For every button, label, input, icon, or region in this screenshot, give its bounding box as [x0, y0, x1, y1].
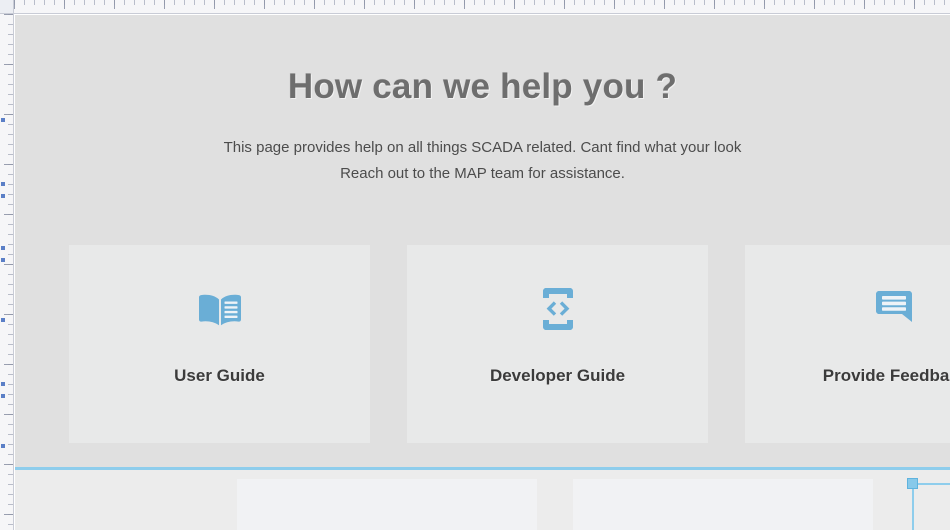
ruler-guide-mark: [1, 382, 5, 386]
help-card-label: Developer Guide: [490, 366, 625, 386]
ruler-guide-mark: [1, 258, 5, 262]
design-editor-canvas-view: How can we help you ? This page provides…: [0, 0, 950, 530]
help-hero-section: How can we help you ? This page provides…: [15, 15, 950, 467]
ruler-guide-mark: [1, 246, 5, 250]
ruler-ticks-major: [14, 0, 950, 13]
ruler-guide-mark: [1, 194, 5, 198]
open-book-icon: [198, 287, 242, 331]
ruler-guide-mark: [1, 444, 5, 448]
help-card-label: Provide Feedback: [823, 366, 950, 386]
resize-handle[interactable]: [907, 478, 918, 489]
lower-section: [15, 470, 950, 530]
horizontal-ruler[interactable]: [0, 0, 950, 14]
page-intro-text: This page provides help on all things SC…: [15, 135, 950, 187]
ruler-guide-mark: [1, 318, 5, 322]
intro-line-1: This page provides help on all things SC…: [15, 135, 950, 161]
selection-guide-vertical: [912, 483, 914, 530]
ruler-guide-mark: [1, 394, 5, 398]
comment-bubble-icon: [874, 287, 918, 331]
ruler-guide-mark: [1, 182, 5, 186]
mobile-code-icon: [536, 287, 580, 331]
vertical-ruler[interactable]: [0, 0, 14, 530]
intro-line-2: Reach out to the MAP team for assistance…: [15, 161, 950, 187]
help-card-list: User Guide Developer Guide: [69, 245, 950, 443]
help-card-label: User Guide: [174, 366, 265, 386]
help-card-user-guide[interactable]: User Guide: [69, 245, 370, 443]
lower-panel[interactable]: [237, 479, 537, 530]
ruler-corner[interactable]: [0, 0, 14, 14]
ruler-guide-mark: [1, 118, 5, 122]
lower-panel-list: [237, 479, 873, 530]
lower-panel[interactable]: [573, 479, 873, 530]
page-canvas: How can we help you ? This page provides…: [15, 15, 950, 530]
page-title: How can we help you ?: [15, 67, 950, 107]
help-card-provide-feedback[interactable]: Provide Feedback: [745, 245, 950, 443]
ruler-ticks-major: [0, 14, 13, 530]
help-card-developer-guide[interactable]: Developer Guide: [407, 245, 708, 443]
